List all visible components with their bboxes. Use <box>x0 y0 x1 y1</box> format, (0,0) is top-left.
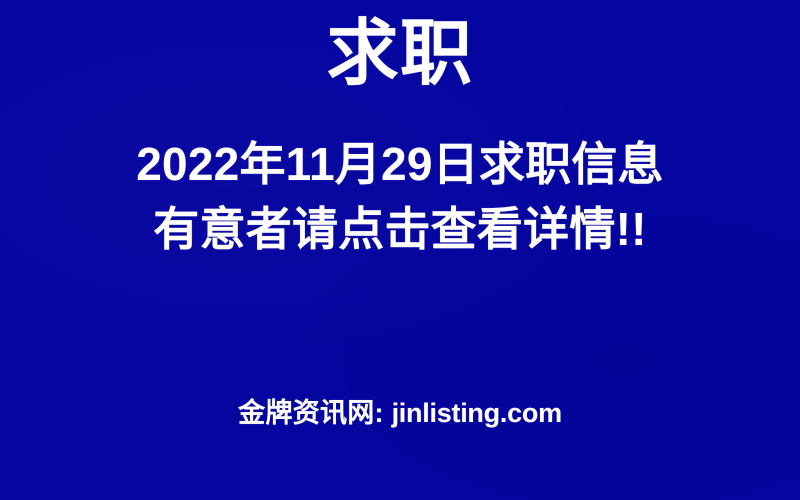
subheading-date-line: 2022年11月29日求职信息 <box>0 132 800 197</box>
website-url[interactable]: jinlisting.com <box>392 398 562 428</box>
publisher-name: 金牌资讯网: <box>238 398 384 428</box>
poster-headline-area: 求职 <box>0 18 800 91</box>
poster-footer-area: 金牌资讯网: jinlisting.com <box>0 398 800 429</box>
job-listing-poster: 求职 2022年11月29日求职信息 有意者请点击查看详情!! 金牌资讯网: j… <box>0 0 800 500</box>
subheading-call-to-action[interactable]: 有意者请点击查看详情!! <box>0 197 800 262</box>
poster-subheading-area: 2022年11月29日求职信息 有意者请点击查看详情!! <box>0 132 800 263</box>
publisher-credit: 金牌资讯网: jinlisting.com <box>238 398 562 429</box>
page-title: 求职 <box>0 18 800 91</box>
